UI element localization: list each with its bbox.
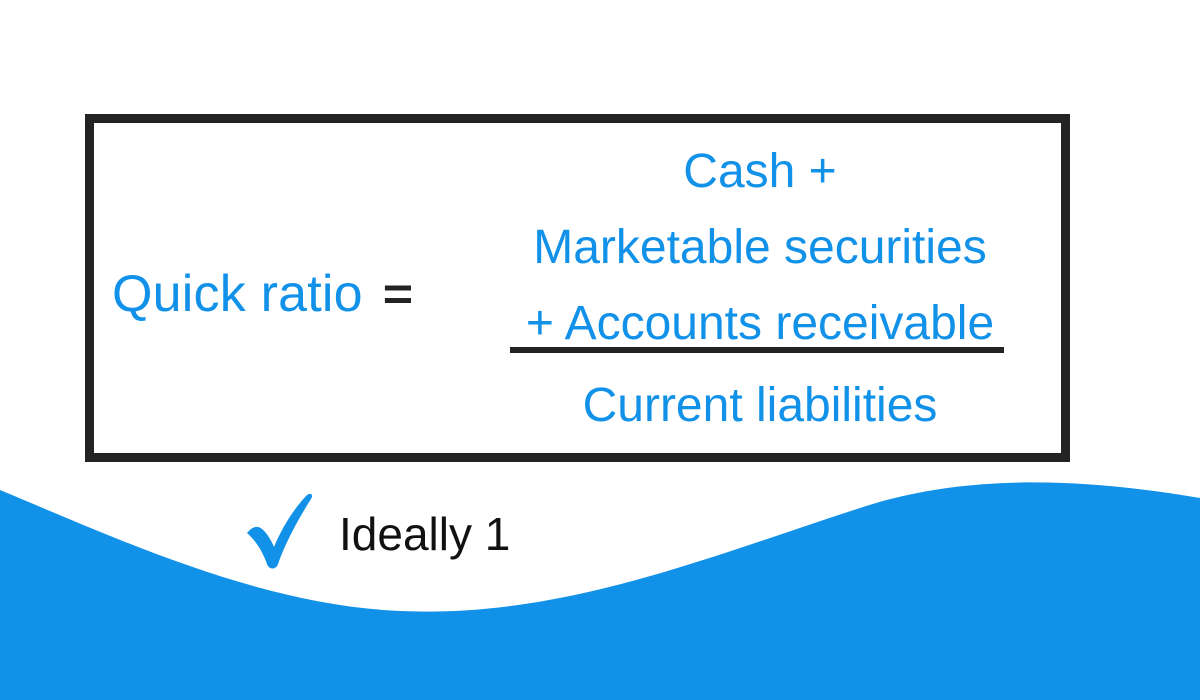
caption-text: Ideally 1 (339, 511, 510, 557)
equation-left-side: Quick ratio = (112, 258, 413, 330)
fraction-bar (510, 347, 1004, 353)
denominator: Current liabilities (450, 378, 1070, 433)
quick-ratio-label: Quick ratio (112, 268, 363, 320)
equals-sign: = (383, 271, 413, 318)
slide-canvas: Quick ratio = Cash + Marketable securiti… (0, 0, 1200, 700)
check-mark-icon (243, 492, 319, 572)
numerator: Cash + Marketable securities + Accounts … (450, 134, 1070, 361)
numerator-line-2: Marketable securities (450, 210, 1070, 286)
numerator-line-1: Cash + (450, 134, 1070, 210)
caption-row: Ideally 1 (243, 492, 510, 572)
fraction-numerator-group: Cash + Marketable securities + Accounts … (450, 134, 1070, 361)
